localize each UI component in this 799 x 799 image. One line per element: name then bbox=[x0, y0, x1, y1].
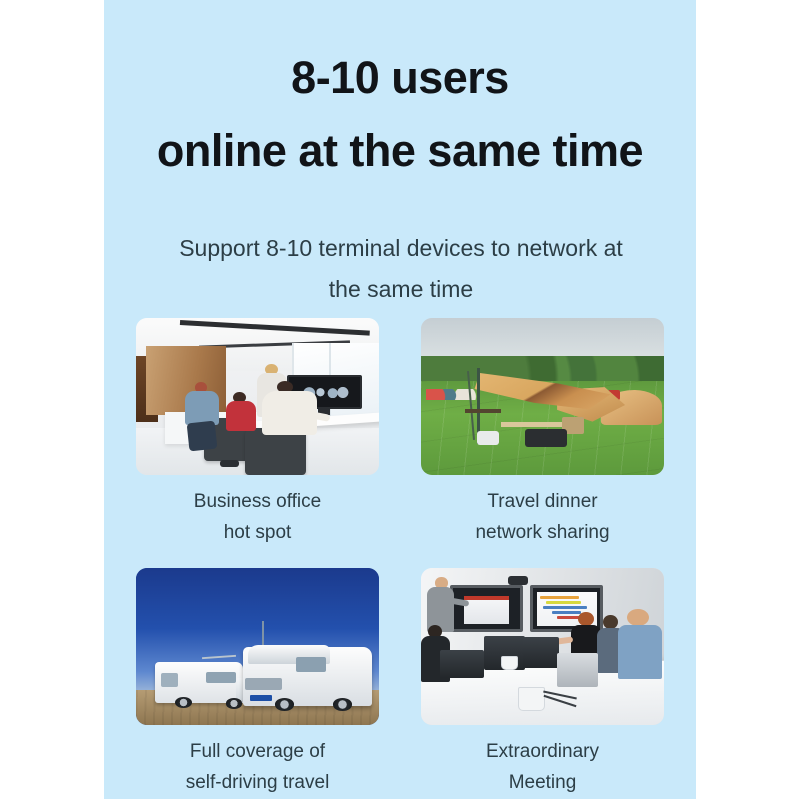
business-office-thumbnail bbox=[136, 318, 379, 475]
office-person-standing-left bbox=[182, 382, 228, 448]
subtitle: Support 8-10 terminal devices to network… bbox=[136, 228, 666, 310]
meeting-person-foreground-right bbox=[618, 609, 664, 697]
caption-line-1: Travel dinner bbox=[421, 486, 664, 517]
camp-cooler-box bbox=[477, 431, 499, 445]
extraordinary-meeting-thumbnail bbox=[421, 568, 664, 725]
subtitle-line-1: Support 8-10 terminal devices to network… bbox=[136, 228, 666, 269]
caption-line-1: Extraordinary bbox=[421, 736, 664, 767]
rv-wheel-2-icon bbox=[226, 698, 242, 708]
meeting-laptop-4-icon bbox=[557, 653, 598, 688]
rv-camper-window bbox=[296, 657, 325, 671]
rv-wheel-1-icon bbox=[175, 697, 192, 708]
rv-truck-grille bbox=[245, 678, 281, 691]
person-legs bbox=[186, 421, 216, 451]
meeting-cup-1-icon bbox=[501, 656, 518, 670]
headline-line-2: online at the same time bbox=[104, 125, 696, 177]
office-person-seated-foreground bbox=[262, 381, 328, 456]
feature-card-self-driving-travel: Full coverage of self-driving travel bbox=[136, 568, 379, 798]
headline-line-1: 8-10 users bbox=[104, 52, 696, 104]
chart-bar bbox=[546, 601, 580, 604]
feature-card-travel-dinner: Travel dinner network sharing bbox=[421, 318, 664, 548]
caption-line-2: network sharing bbox=[421, 517, 664, 548]
camp-power-station bbox=[525, 429, 566, 446]
caption-line-2: hot spot bbox=[136, 517, 379, 548]
caption-line-2: self-driving travel bbox=[136, 767, 379, 798]
person-head bbox=[627, 609, 649, 627]
chart-bar bbox=[543, 606, 587, 609]
self-driving-travel-thumbnail bbox=[136, 568, 379, 725]
caption-line-1: Full coverage of bbox=[136, 736, 379, 767]
chart-bar bbox=[540, 596, 579, 599]
caption-line-1: Business office bbox=[136, 486, 379, 517]
card-caption: Travel dinner network sharing bbox=[421, 486, 664, 548]
feature-card-business-office: Business office hot spot bbox=[136, 318, 379, 548]
feature-card-extraordinary-meeting: Extraordinary Meeting bbox=[421, 568, 664, 798]
card-caption: Full coverage of self-driving travel bbox=[136, 736, 379, 798]
person-torso bbox=[618, 625, 662, 680]
rv-wheel-3-icon bbox=[275, 698, 294, 711]
rv-camper-rear-icon bbox=[155, 662, 242, 703]
person-torso bbox=[185, 391, 219, 425]
person-torso bbox=[226, 401, 256, 431]
travel-dinner-thumbnail bbox=[421, 318, 664, 475]
meeting-display-left-icon bbox=[450, 585, 523, 632]
card-caption: Extraordinary Meeting bbox=[421, 736, 664, 798]
camp-hanging-rack bbox=[465, 409, 501, 413]
rv-wheel-4-icon bbox=[333, 698, 352, 711]
rv-license-plate bbox=[250, 695, 272, 701]
video-conference-camera-icon bbox=[508, 576, 527, 585]
card-caption: Business office hot spot bbox=[136, 486, 379, 548]
meeting-laptop-2-icon bbox=[523, 637, 559, 668]
caption-line-2: Meeting bbox=[421, 767, 664, 798]
meeting-laptop-3-icon bbox=[440, 650, 484, 678]
meeting-pen-holder-icon bbox=[518, 687, 545, 711]
subtitle-line-2: the same time bbox=[136, 269, 666, 310]
product-feature-poster: 8-10 users online at the same time Suppo… bbox=[0, 0, 799, 799]
